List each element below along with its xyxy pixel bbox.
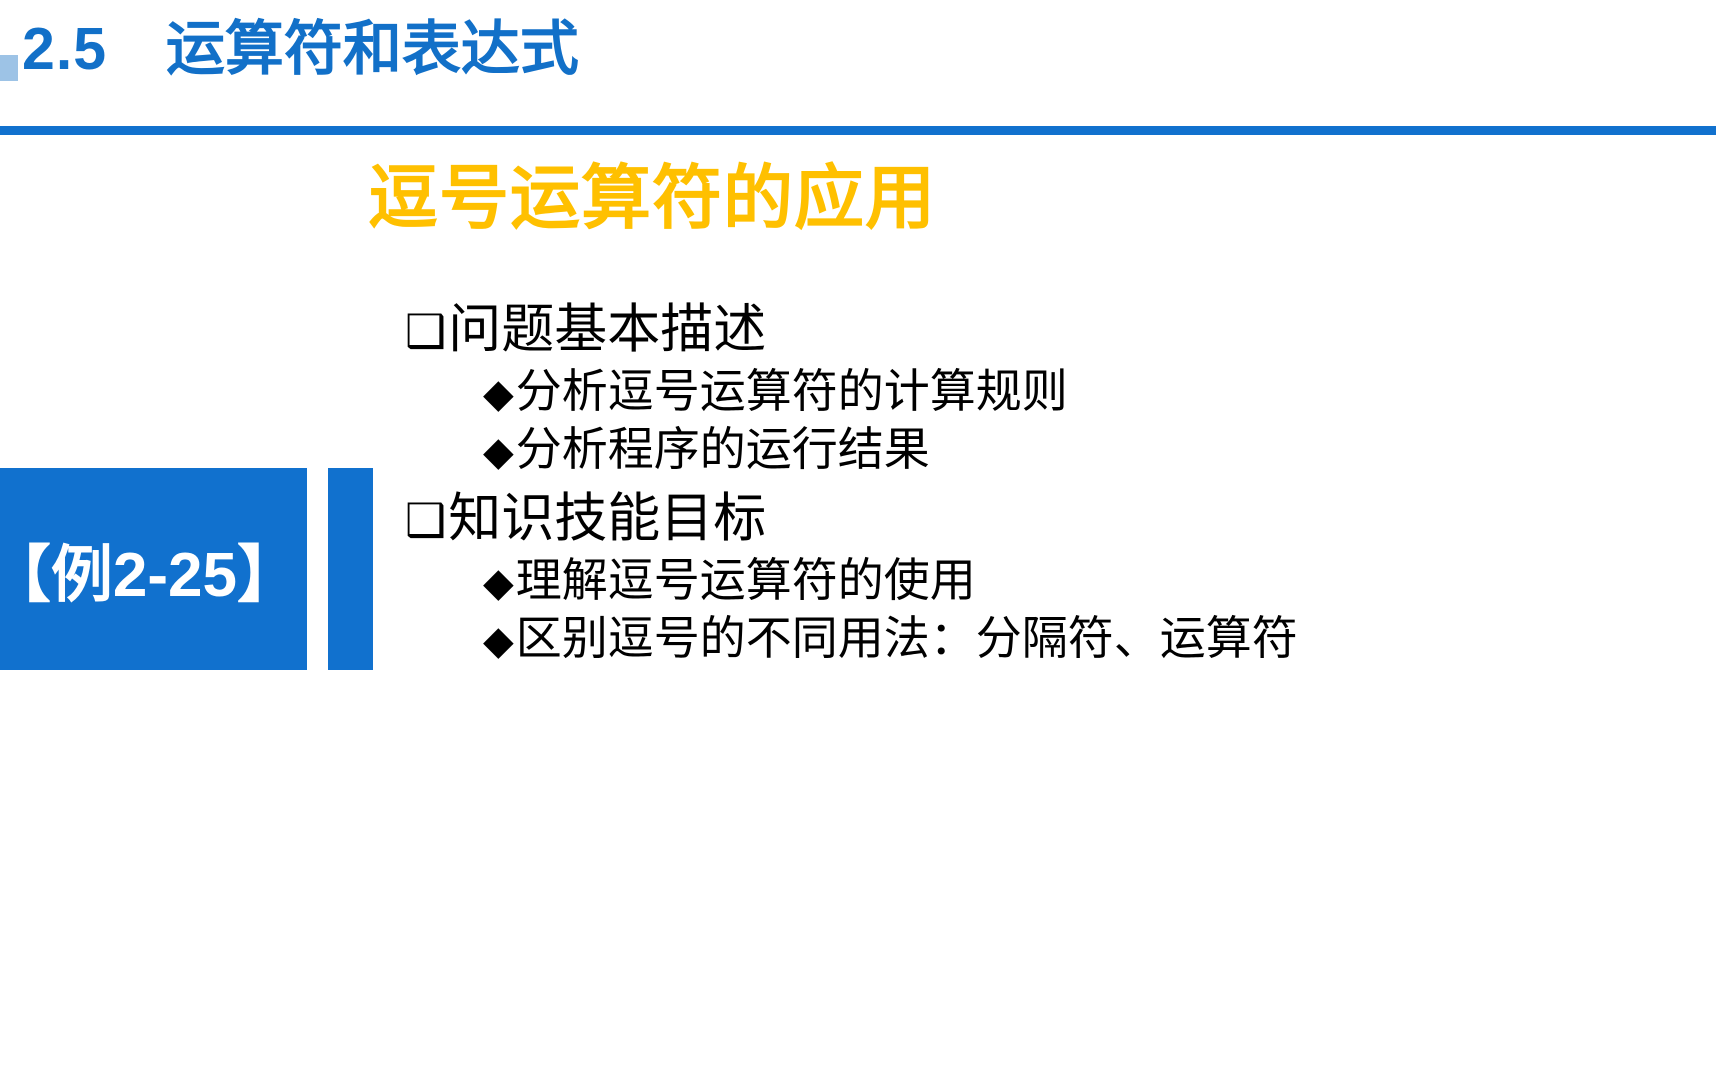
hollow-square-bullet-icon: ❑	[405, 308, 446, 354]
list-item: ◆ 分析程序的运行结果	[483, 426, 1705, 472]
example-badge-accent-bar	[328, 468, 373, 670]
list-item: ◆ 理解逗号运算符的使用	[483, 557, 1705, 603]
list-item-heading: ❑ 知识技能目标	[405, 492, 1705, 545]
list-item: ◆ 区别逗号的不同用法：分隔符、运算符	[483, 615, 1705, 661]
content-group: ❑ 问题基本描述 ◆ 分析逗号运算符的计算规则 ◆ 分析程序的运行结果	[405, 303, 1705, 472]
hollow-square-bullet-icon: ❑	[405, 497, 446, 543]
square-marker-icon	[0, 55, 18, 81]
list-item-heading: ❑ 问题基本描述	[405, 303, 1705, 356]
header-divider	[0, 126, 1716, 135]
list-item-label: 区别逗号的不同用法：分隔符、运算符	[516, 615, 1298, 661]
content-group: ❑ 知识技能目标 ◆ 理解逗号运算符的使用 ◆ 区别逗号的不同用法：分隔符、运算…	[405, 492, 1705, 661]
example-badge-label: 【例2-25】	[0, 524, 299, 614]
main-title: 逗号运算符的应用	[368, 158, 936, 239]
list-item-label: 问题基本描述	[448, 303, 766, 356]
example-badge-box: 【例2-25】	[0, 468, 307, 670]
list-item-label: 知识技能目标	[448, 492, 766, 545]
list-item-label: 分析程序的运行结果	[516, 426, 930, 472]
slide-header: 2.5 运算符和表达式	[0, 0, 1728, 126]
filled-diamond-bullet-icon: ◆	[483, 432, 514, 472]
filled-diamond-bullet-icon: ◆	[483, 563, 514, 603]
list-item-label: 分析逗号运算符的计算规则	[516, 368, 1068, 414]
section-number: 2.5	[22, 16, 107, 82]
filled-diamond-bullet-icon: ◆	[483, 621, 514, 661]
list-item: ◆ 分析逗号运算符的计算规则	[483, 368, 1705, 414]
content-body: ❑ 问题基本描述 ◆ 分析逗号运算符的计算规则 ◆ 分析程序的运行结果 ❑ 知识…	[405, 303, 1705, 673]
list-item-label: 理解逗号运算符的使用	[516, 557, 976, 603]
page-title: 2.5 运算符和表达式	[22, 17, 579, 82]
slide-canvas: 2.5 运算符和表达式 逗号运算符的应用 【例2-25】 ❑ 问题基本描述 ◆ …	[0, 0, 1728, 1080]
section-title: 运算符和表达式	[166, 16, 579, 82]
filled-diamond-bullet-icon: ◆	[483, 374, 514, 414]
